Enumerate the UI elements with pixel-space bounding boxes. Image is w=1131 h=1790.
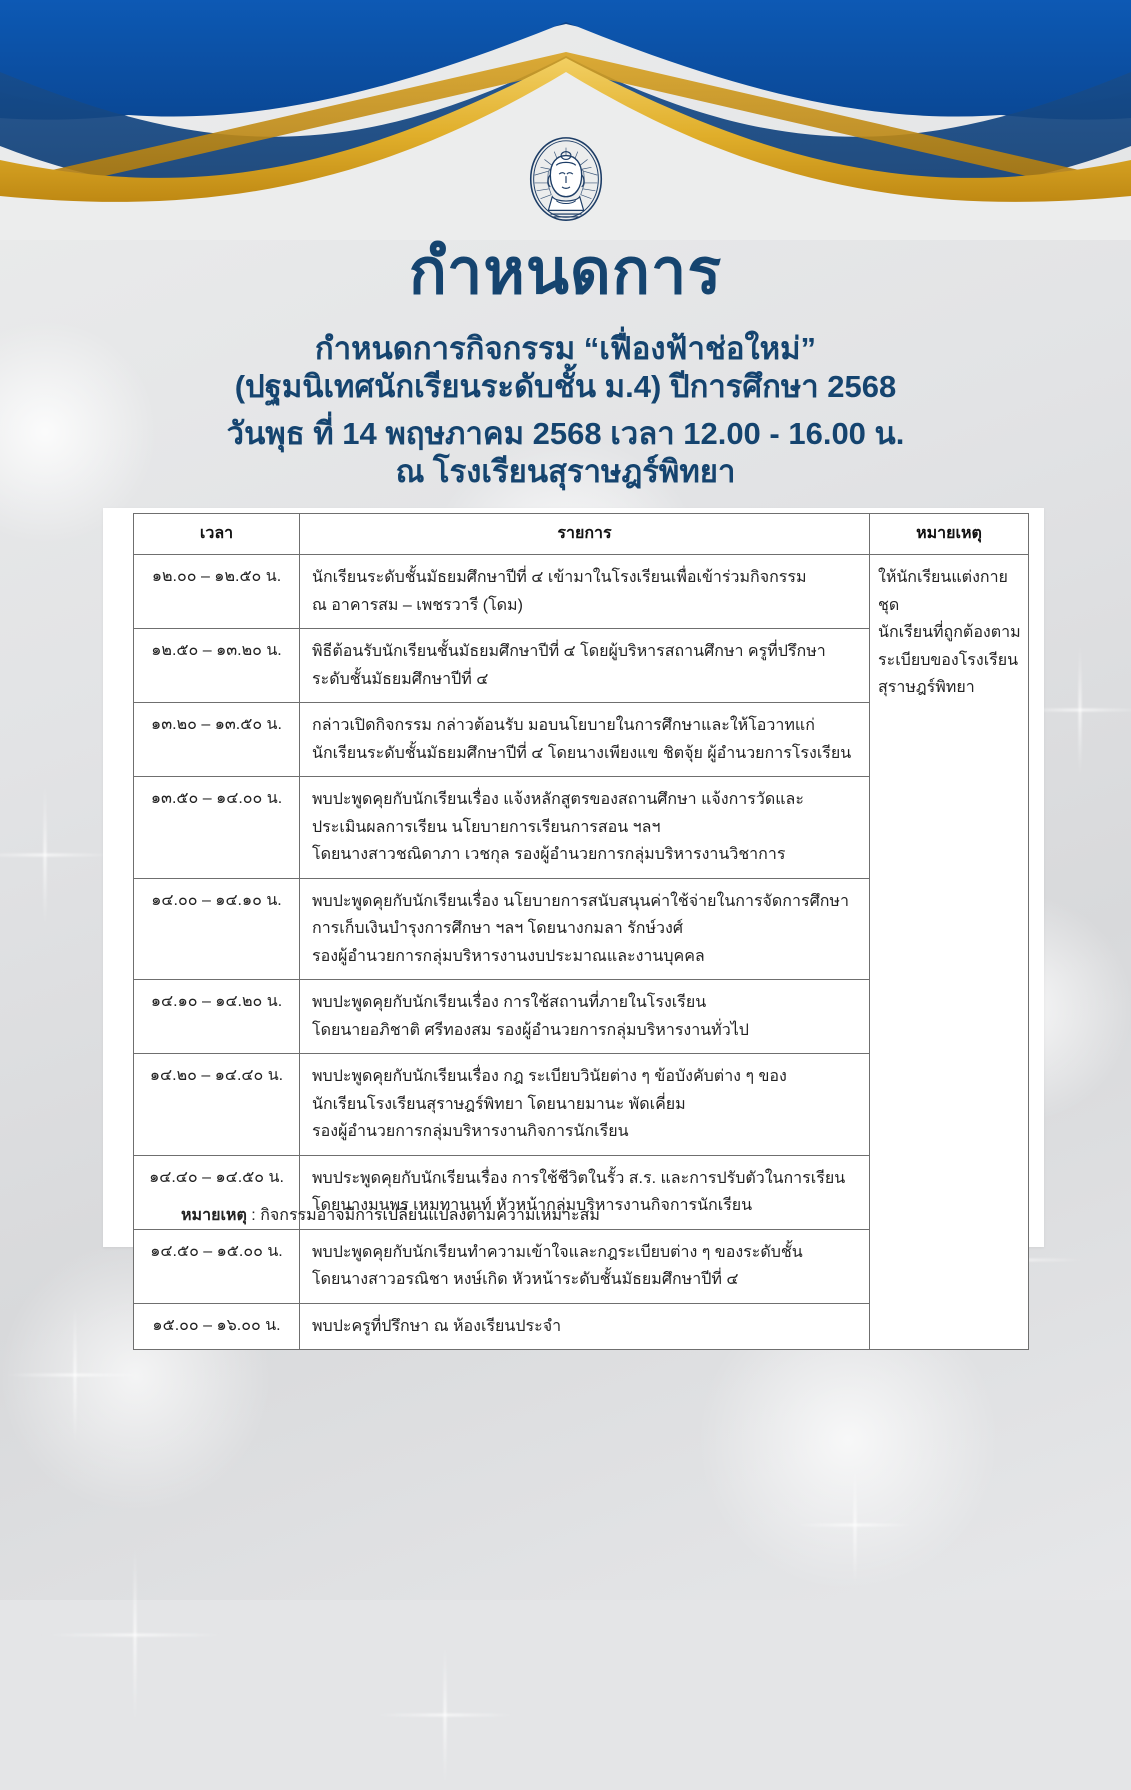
cell-item-line: พบปะพูดคุยกับนักเรียนเรื่อง นโยบายการสนั…: [312, 888, 861, 916]
cell-item-line: พบปะพูดคุยกับนักเรียนเรื่อง กฎ ระเบียบวิ…: [312, 1063, 861, 1091]
cell-item-line: รองผู้อำนวยการกลุ่มบริหารงานงบประมาณและง…: [312, 943, 861, 971]
cell-item: พิธีต้อนรับนักเรียนชั้นมัธยมศึกษาปีที่ ๔…: [300, 629, 870, 703]
page-title: กำหนดการ: [0, 241, 1131, 304]
cell-time: ๑๓.๕๐ – ๑๔.๐๐ น.: [134, 777, 300, 879]
cell-time: ๑๓.๒๐ – ๑๓.๕๐ น.: [134, 703, 300, 777]
cell-time: ๑๒.๐๐ – ๑๒.๕๐ น.: [134, 555, 300, 629]
cell-item-line: พบประพูดคุยกับนักเรียนเรื่อง การใช้ชีวิต…: [312, 1165, 861, 1193]
table-row: ๑๒.๐๐ – ๑๒.๕๐ น.นักเรียนระดับชั้นมัธยมศึ…: [134, 555, 1029, 629]
cell-time: ๑๔.๕๐ – ๑๕.๐๐ น.: [134, 1229, 300, 1303]
cell-item: กล่าวเปิดกิจกรรม กล่าวต้อนรับ มอบนโยบายใ…: [300, 703, 870, 777]
footnote-label: หมายเหตุ: [181, 1207, 247, 1224]
cell-item-line: ระดับชั้นมัธยมศึกษาปีที่ ๔: [312, 666, 861, 694]
cell-time: ๑๔.๐๐ – ๑๔.๑๐ น.: [134, 878, 300, 980]
cell-item-line: พิธีต้อนรับนักเรียนชั้นมัธยมศึกษาปีที่ ๔…: [312, 638, 861, 666]
column-header-note: หมายเหตุ: [870, 514, 1029, 555]
school-crest: [0, 132, 1131, 230]
cell-item-line: โดยนายอภิชาติ ศรีทองสม รองผู้อำนวยการกลุ…: [312, 1017, 861, 1045]
subtitle-line-2: (ปฐมนิเทศนักเรียนระดับชั้น ม.4) ปีการศึก…: [0, 367, 1131, 408]
cell-item-line: พบปะครูที่ปรึกษา ณ ห้องเรียนประจำ: [312, 1313, 861, 1341]
cell-item-line: พบปะพูดคุยกับนักเรียนเรื่อง แจ้งหลักสูตร…: [312, 786, 861, 814]
cell-item-line: นักเรียนโรงเรียนสุราษฎร์พิทยา โดยนายมานะ…: [312, 1091, 861, 1119]
cell-time: ๑๔.๒๐ – ๑๔.๔๐ น.: [134, 1054, 300, 1156]
cell-item: พบปะพูดคุยกับนักเรียนเรื่อง นโยบายการสนั…: [300, 878, 870, 980]
subtitle-line-1: กำหนดการกิจกรรม “เฟื่องฟ้าช่อใหม่”: [0, 329, 1131, 370]
cell-item-line: ณ อาคารสม – เพชรวารี (โดม): [312, 592, 861, 620]
subtitle-line-3: วันพุธ ที่ 14 พฤษภาคม 2568 เวลา 12.00 - …: [0, 414, 1131, 455]
footnote-text: : กิจกรรมอาจมีการเปลี่ยนแปลงตามความเหมาะ…: [247, 1207, 600, 1224]
cell-item-line: พบปะพูดคุยกับนักเรียนเรื่อง การใช้สถานที…: [312, 989, 861, 1017]
cell-note-line: สุราษฎร์พิทยา: [878, 674, 1022, 702]
cell-item-line: นักเรียนระดับชั้นมัธยมศึกษาปีที่ ๔ โดยนา…: [312, 740, 861, 768]
table-header-row: เวลา รายการ หมายเหตุ: [134, 514, 1029, 555]
cell-item-line: โดยนางสาวชณิดาภา เวชกุล รองผู้อำนวยการกล…: [312, 841, 861, 869]
cell-item-line: กล่าวเปิดกิจกรรม กล่าวต้อนรับ มอบนโยบายใ…: [312, 712, 861, 740]
cell-time: ๑๔.๑๐ – ๑๔.๒๐ น.: [134, 980, 300, 1054]
cell-item-line: โดยนางสาวอรณิชา หงษ์เกิด หัวหน้าระดับชั้…: [312, 1266, 861, 1294]
cell-item-line: พบปะพูดคุยกับนักเรียนทำความเข้าใจและกฎระ…: [312, 1239, 861, 1267]
cell-item-line: ประเมินผลการเรียน นโยบายการเรียนการสอน ฯ…: [312, 814, 861, 842]
cell-note-line: นักเรียนที่ถูกต้องตาม: [878, 619, 1022, 647]
cell-item: นักเรียนระดับชั้นมัธยมศึกษาปีที่ ๔ เข้าม…: [300, 555, 870, 629]
cell-item: พบปะพูดคุยกับนักเรียนเรื่อง แจ้งหลักสูตร…: [300, 777, 870, 879]
cell-note-line: ระเบียบของโรงเรียน: [878, 647, 1022, 675]
footnote: หมายเหตุ : กิจกรรมอาจมีการเปลี่ยนแปลงตาม…: [181, 1203, 600, 1228]
cell-item-line: นักเรียนระดับชั้นมัธยมศึกษาปีที่ ๔ เข้าม…: [312, 564, 861, 592]
cell-note: ให้นักเรียนแต่งกายชุดนักเรียนที่ถูกต้องต…: [870, 555, 1029, 1350]
cell-item: พบปะครูที่ปรึกษา ณ ห้องเรียนประจำ: [300, 1303, 870, 1350]
cell-item-line: การเก็บเงินบำรุงการศึกษา ฯลฯ โดยนางกมลา …: [312, 915, 861, 943]
column-header-time: เวลา: [134, 514, 300, 555]
sparkle-decoration: [370, 1640, 520, 1790]
cell-time: ๑๕.๐๐ – ๑๖.๐๐ น.: [134, 1303, 300, 1350]
cell-item: พบปะพูดคุยกับนักเรียนเรื่อง กฎ ระเบียบวิ…: [300, 1054, 870, 1156]
cell-item: พบปะพูดคุยกับนักเรียนเรื่อง การใช้สถานที…: [300, 980, 870, 1054]
subtitle-line-4: ณ โรงเรียนสุราษฎร์พิทยา: [0, 452, 1131, 493]
cell-item: พบปะพูดคุยกับนักเรียนทำความเข้าใจและกฎระ…: [300, 1229, 870, 1303]
cell-note-line: ให้นักเรียนแต่งกายชุด: [878, 564, 1022, 619]
school-emblem-icon: [517, 132, 615, 230]
cell-item-line: รองผู้อำนวยการกลุ่มบริหารงานกิจการนักเรี…: [312, 1118, 861, 1146]
column-header-item: รายการ: [300, 514, 870, 555]
cell-time: ๑๒.๕๐ – ๑๓.๒๐ น.: [134, 629, 300, 703]
